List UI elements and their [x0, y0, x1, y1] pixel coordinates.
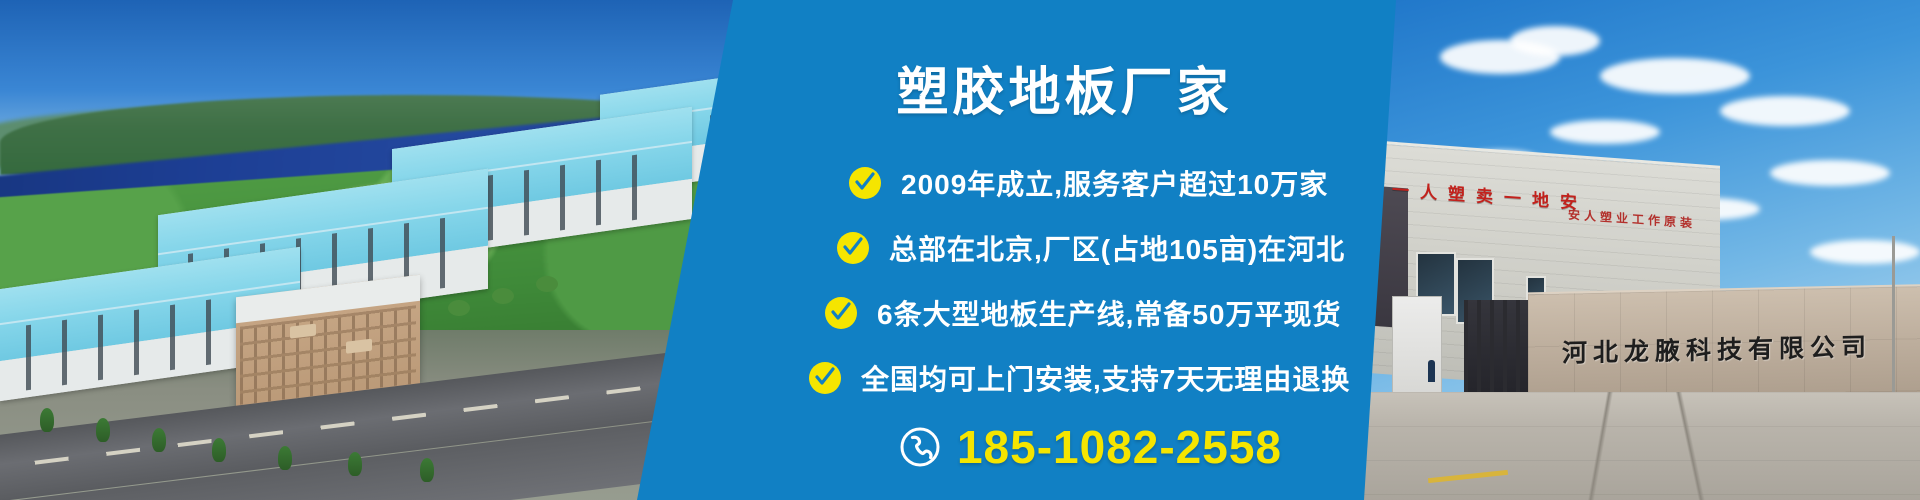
- check-circle-icon: [825, 297, 857, 329]
- window: [134, 310, 139, 376]
- list-item-label: 全国均可上门安装,支持7天无理由退换: [861, 358, 1350, 398]
- shrub: [492, 288, 514, 304]
- list-item-label: 6条大型地板生产线,常备50万平现货: [877, 293, 1342, 333]
- contact-phone[interactable]: 185-1082-2558: [759, 420, 1422, 474]
- window: [440, 218, 445, 288]
- shrub: [536, 276, 558, 292]
- phone-icon: [899, 426, 941, 468]
- panel-content: 塑胶地板厂家 2009年成立,服务客户超过10万家 总部在北京,厂区(占地105…: [733, 0, 1396, 500]
- window: [98, 315, 103, 381]
- window: [524, 170, 529, 236]
- tree: [40, 408, 54, 432]
- list-item-label: 总部在北京,厂区(占地105亩)在河北: [889, 228, 1345, 268]
- window: [596, 160, 601, 226]
- cloud: [1770, 160, 1890, 186]
- tree: [420, 458, 434, 482]
- window: [62, 320, 67, 386]
- tree: [348, 452, 362, 476]
- light-pole: [1892, 236, 1895, 396]
- list-item-label: 2009年成立,服务客户超过10万家: [901, 163, 1328, 203]
- feature-list: 2009年成立,服务客户超过10万家 总部在北京,厂区(占地105亩)在河北 6…: [733, 150, 1396, 410]
- list-item: 全国均可上门安装,支持7天无理由退换: [809, 345, 1396, 410]
- entrance-wall: 河北龙腋科技有限公司: [1528, 284, 1920, 405]
- window: [560, 165, 565, 231]
- check-circle-icon: [849, 167, 881, 199]
- check-circle-icon: [809, 362, 841, 394]
- factory-door: [1392, 296, 1442, 398]
- cloud: [1810, 240, 1920, 264]
- person: [1428, 360, 1435, 382]
- tree: [152, 428, 166, 452]
- list-item: 6条大型地板生产线,常备50万平现货: [825, 280, 1396, 345]
- company-name-sign: 河北龙腋科技有限公司: [1562, 326, 1920, 370]
- window: [26, 325, 31, 391]
- tree: [96, 418, 110, 442]
- list-item: 总部在北京,厂区(占地105亩)在河北: [837, 215, 1396, 280]
- cloud: [1550, 120, 1660, 144]
- window: [206, 300, 211, 366]
- promo-banner: 一人塑卖一地安 安人塑业工作原装 河北龙腋科技有限公司 塑胶地板厂家: [0, 0, 1920, 500]
- cloud: [1720, 96, 1850, 126]
- cloud: [1510, 26, 1600, 56]
- cloud: [1600, 58, 1750, 94]
- list-item: 2009年成立,服务客户超过10万家: [849, 150, 1396, 215]
- check-circle-icon: [837, 232, 869, 264]
- tree: [278, 446, 292, 470]
- page-title: 塑胶地板厂家: [733, 50, 1396, 125]
- phone-number: 185-1082-2558: [957, 420, 1282, 474]
- shrub: [448, 300, 470, 316]
- window: [170, 305, 175, 371]
- tree: [212, 438, 226, 462]
- window: [632, 155, 637, 221]
- window: [488, 175, 493, 241]
